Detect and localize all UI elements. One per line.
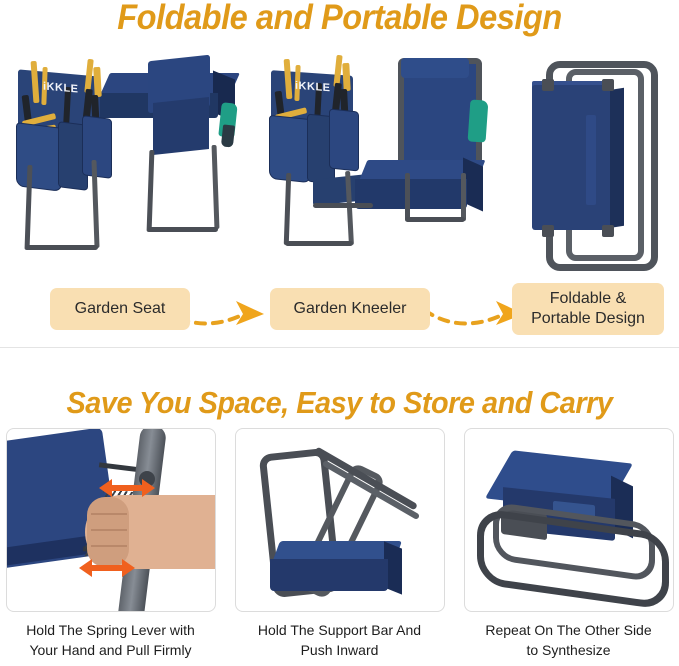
pull-direction-arrow-icon <box>79 557 135 579</box>
product-stage: iKKLE iKKLE <box>0 55 679 285</box>
frame-leg <box>147 150 155 232</box>
caption-line-2: to Synthesize <box>526 642 610 658</box>
seat-backrest-lower <box>153 97 209 155</box>
frame-clip <box>602 79 614 91</box>
frame-foot <box>26 245 98 250</box>
step-image-spring-lever <box>6 428 216 612</box>
step-caption-1: Hold The Spring Lever with Your Hand and… <box>0 620 223 661</box>
chip-garden-seat: Garden Seat <box>50 288 190 330</box>
tool-pouch-right <box>82 115 112 179</box>
infographic-page: Foldable and Portable Design <box>0 0 679 666</box>
step-image-support-bar <box>235 428 445 612</box>
frame-foot <box>148 227 218 232</box>
folded-cushion-side <box>608 88 624 229</box>
chip-label-line-2: Portable Design <box>531 310 645 327</box>
step-caption-2: Hold The Support Bar And Push Inward <box>227 620 452 661</box>
frame-clip <box>602 225 614 237</box>
frame-clip <box>542 225 554 237</box>
caption-line-2: Push Inward <box>301 642 379 658</box>
finger-separation <box>91 529 127 531</box>
frame-support-bar <box>313 203 373 208</box>
frame-clip <box>542 79 554 91</box>
chip-label-multiline: Foldable & Portable Design <box>531 289 645 329</box>
chip-label-line-1: Foldable & <box>550 290 627 307</box>
frame-foot <box>405 217 465 222</box>
tool-handle-icon <box>93 67 102 97</box>
tool-pouch-right <box>329 108 359 171</box>
tool-pouch-left <box>16 122 62 192</box>
brand-logo: iKKLE <box>295 80 331 94</box>
caption-line-1: Repeat On The Other Side <box>485 622 651 638</box>
kneeler-back-pad <box>401 58 469 78</box>
frame-leg <box>284 173 292 245</box>
finger-separation <box>91 513 127 515</box>
frame-foot <box>285 241 353 246</box>
caption-line-1: Hold The Support Bar And <box>258 622 421 638</box>
product-image-garden-seat: iKKLE <box>8 55 243 280</box>
section-divider <box>0 347 679 348</box>
cushion-front <box>270 559 388 591</box>
step-caption-3: Repeat On The Other Side to Synthesize <box>456 620 679 661</box>
pull-direction-arrow-icon <box>99 477 155 499</box>
product-image-folded <box>520 55 670 283</box>
caption-line-1: Hold The Spring Lever with <box>26 622 195 638</box>
folded-cushion-face <box>532 85 610 230</box>
chip-label: Garden Seat <box>75 299 166 319</box>
product-image-garden-kneeler: iKKLE <box>255 55 495 283</box>
step-image-folded-flat <box>464 428 674 612</box>
finger-separation <box>91 545 127 547</box>
chip-garden-kneeler: Garden Kneeler <box>270 288 430 330</box>
caption-line-2: Your Hand and Pull Firmly <box>29 642 191 658</box>
chip-foldable-portable: Foldable & Portable Design <box>512 283 664 335</box>
chip-label: Garden Kneeler <box>294 299 407 319</box>
page-title-foldable: Foldable and Portable Design <box>24 0 655 38</box>
page-title-save-space: Save You Space, Easy to Store and Carry <box>24 385 655 421</box>
frame-leg <box>212 145 220 229</box>
gardening-glove-cuff <box>221 124 235 147</box>
frame-leg <box>405 173 410 221</box>
tool-handle-icon <box>342 63 350 91</box>
carry-strap <box>586 115 596 205</box>
gardening-glove-icon <box>468 99 489 142</box>
frame-leg <box>461 173 466 221</box>
